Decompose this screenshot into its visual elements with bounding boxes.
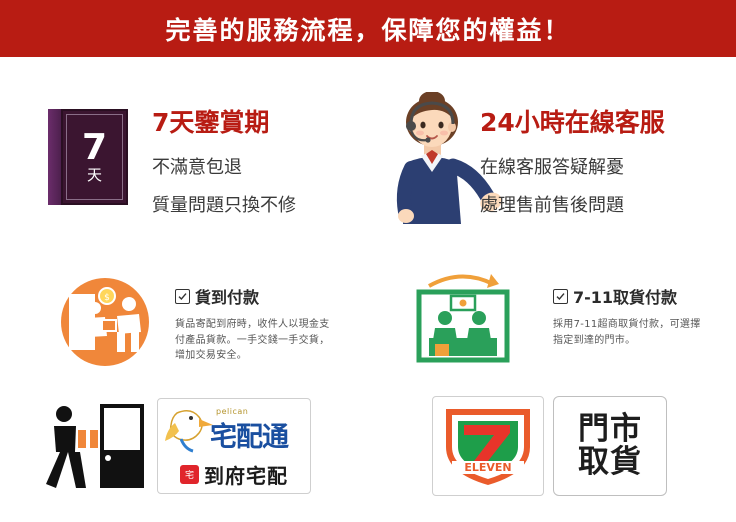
payment-methods-section: $ 貨到付款 貨品寄配到府時，收件人以現金支付產品貨款。一手交錢一手交貨，增加交…: [0, 258, 736, 388]
store-pickup-badge: 門市 取貨: [553, 396, 667, 496]
pelican-express-logo: pelican 宅配通 宅 到府宅配: [157, 398, 311, 494]
store-description: 採用7-11超商取貨付款，可選擇指定到達的門市。: [553, 317, 703, 348]
seven-eleven-logo: ELEVEN: [432, 396, 544, 496]
book-number: 7: [82, 130, 107, 166]
seven-eleven-wordmark: ELEVEN: [464, 461, 511, 474]
store-pickup-text-block: 7-11取貨付款 採用7-11超商取貨付款，可選擇指定到達的門市。: [553, 284, 703, 348]
pickup-line-2: 取貨: [578, 446, 642, 479]
service-line-2: 處理售前售後問題: [480, 191, 720, 217]
pelican-service-label: 到府宅配: [204, 460, 288, 489]
book-cover: 7 天: [61, 109, 128, 205]
cod-title-row: 貨到付款: [175, 284, 330, 308]
cod-text-block: 貨到付款 貨品寄配到府時，收件人以現金支付產品貨款。一手交錢一手交貨，增加交易安…: [175, 284, 330, 364]
store-title-row: 7-11取貨付款: [553, 284, 703, 308]
pickup-line-1: 門市: [578, 413, 642, 446]
pelican-service-row: 宅 到府宅配: [158, 460, 310, 489]
trial-and-service-section: 7 天 7天鑒賞期 不滿意包退 質量問題只換不修: [0, 57, 736, 240]
trial-text-block: 7天鑒賞期 不滿意包退 質量問題只換不修: [152, 103, 367, 229]
home-delivery-illustration: [42, 400, 147, 492]
book-unit: 天: [87, 167, 102, 184]
store-checkbox-icon: [553, 289, 568, 304]
store-title: 7-11取貨付款: [573, 284, 677, 308]
book-cover-inner: 7 天: [66, 114, 123, 200]
service-line-1: 在線客服答疑解憂: [480, 153, 720, 179]
trial-line-1: 不滿意包退: [152, 153, 367, 179]
book-spine: [48, 109, 62, 205]
trial-title: 7天鑒賞期: [152, 103, 367, 139]
cash-on-delivery-illustration: $: [55, 270, 155, 375]
svg-text:$: $: [104, 293, 110, 303]
store-pickup-illustration: [405, 266, 520, 376]
seven-day-book-icon: 7 天: [48, 109, 128, 205]
pelican-logo-top: pelican 宅配通: [158, 399, 310, 455]
service-text-block: 24小時在線客服 在線客服答疑解憂 處理售前售後問題: [480, 103, 720, 229]
banner-title: 完善的服務流程，保障您的權益！: [165, 11, 570, 47]
cod-checkbox-icon: [175, 289, 190, 304]
header-banner: 完善的服務流程，保障您的權益！: [0, 0, 736, 57]
pelican-brand-zh: 宅配通: [210, 415, 288, 454]
trial-line-2: 質量問題只換不修: [152, 191, 367, 217]
logos-section: pelican 宅配通 宅 到府宅配 ELEVEN 門市 取貨: [0, 392, 736, 512]
cod-description: 貨品寄配到府時，收件人以現金支付產品貨款。一手交錢一手交貨，增加交易安全。: [175, 317, 330, 364]
service-title: 24小時在線客服: [480, 103, 720, 139]
cod-title: 貨到付款: [195, 284, 259, 308]
pelican-badge-icon: 宅: [180, 465, 199, 484]
